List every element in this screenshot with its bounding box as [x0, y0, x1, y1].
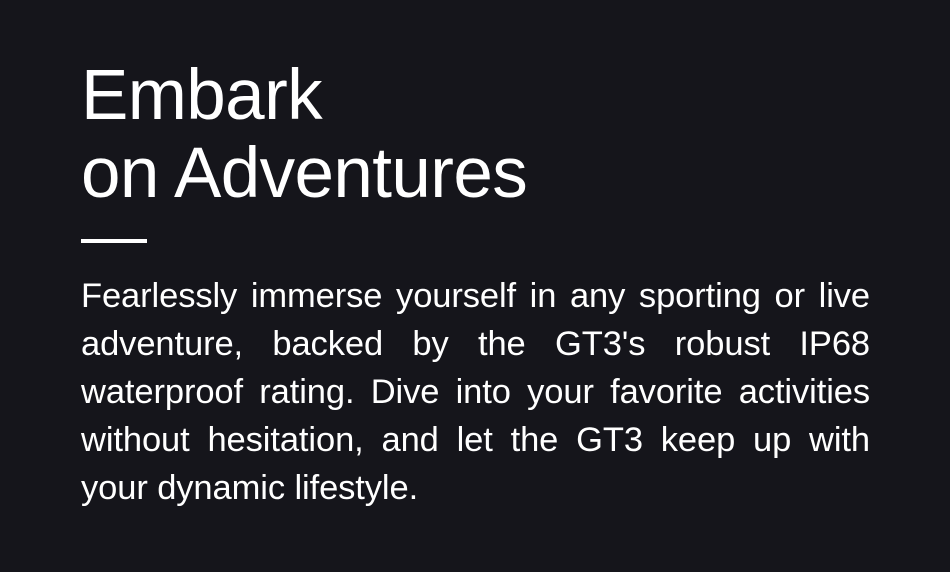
divider-container	[81, 239, 870, 243]
hero-body-text: Fearlessly immerse yourself in any sport…	[81, 272, 870, 512]
hero-section: Embark on Adventures Fearlessly immerse …	[0, 0, 950, 572]
hero-content: Embark on Adventures Fearlessly immerse …	[81, 57, 870, 512]
page-title: Embark on Adventures	[81, 57, 870, 213]
accent-divider	[81, 239, 147, 243]
